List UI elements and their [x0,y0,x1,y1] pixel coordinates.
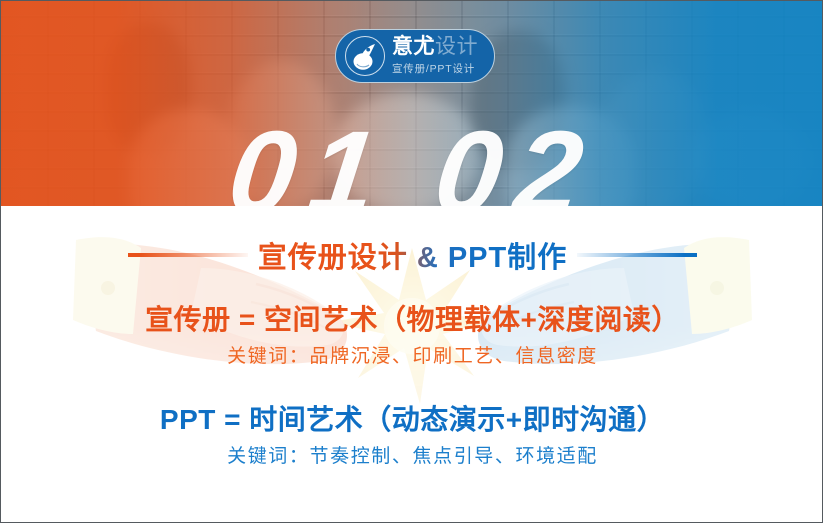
title-rule-left [128,253,248,257]
feather-pen-circle-icon [345,36,385,76]
block-headline: PPT = 时间艺术（动态演示+即时沟通） [1,402,823,437]
brand-logo[interactable]: 意尤设计 宣传册/PPT设计 [335,29,495,83]
slide-canvas: 01 02 意尤设计 宣传册/PPT设计 [0,0,823,523]
section-title: 宣传册设计 & PPT制作 [258,234,567,276]
content-block-ppt: PPT = 时间艺术（动态演示+即时沟通） 关键词：节奏控制、焦点引导、环境适配 [1,402,823,470]
block-keywords: 关键词：品牌沉浸、印刷工艺、信息密度 [1,345,823,370]
logo-title: 意尤设计 [392,36,478,58]
logo-text-group: 意尤设计 宣传册/PPT设计 [392,36,478,75]
section-title-row: 宣传册设计 & PPT制作 [1,234,823,276]
block-keywords: 关键词：节奏控制、焦点引导、环境适配 [1,445,823,470]
logo-title-ghost: 设计 [435,35,478,58]
block-headline: 宣传册 = 空间艺术（物理载体+深度阅读） [1,302,823,337]
logo-title-solid: 意尤 [392,35,435,58]
title-rule-right [577,253,697,257]
content-area: 宣传册设计 & PPT制作 宣传册 = 空间艺术（物理载体+深度阅读） 关键词：… [1,206,823,523]
header-banner: 01 02 意尤设计 宣传册/PPT设计 [1,1,823,206]
logo-subtitle: 宣传册/PPT设计 [392,61,478,76]
content-block-brochure: 宣传册 = 空间艺术（物理载体+深度阅读） 关键词：品牌沉浸、印刷工艺、信息密度 [1,302,823,370]
